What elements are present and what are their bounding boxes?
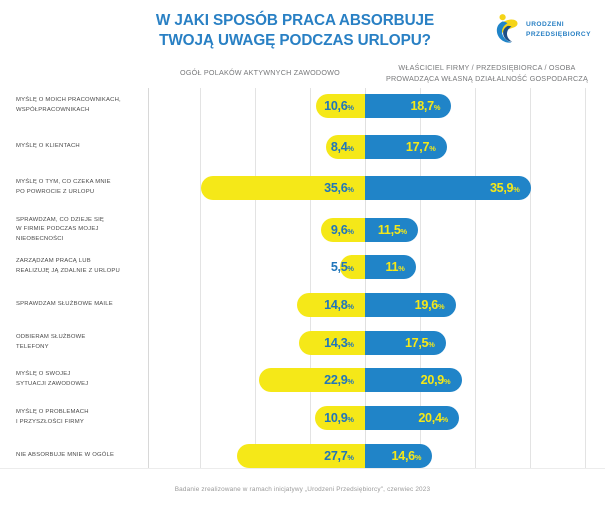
bar-value-general-population: 14,8% xyxy=(324,298,354,312)
chart-row-label-line: NIEOBECNOŚCI xyxy=(16,235,144,245)
legend-label-business-owners: WŁAŚCICIEL FIRMY / PRZEDSIĘBIORCA / OSOB… xyxy=(370,63,604,85)
chart-row-label: ODBIERAM SŁUŻBOWETELEFONY xyxy=(16,333,144,352)
footer-divider xyxy=(0,468,605,469)
chart-row-label-line: REALIZUJĘ JĄ ZDALNIE Z URLOPU xyxy=(16,267,144,277)
chart-row-label-line: MYŚLĘ O PROBLEMACH xyxy=(16,408,144,418)
bar-value-general-population: 5,5% xyxy=(331,260,354,274)
bar-value-general-population: 8,4% xyxy=(331,140,354,154)
bar-value-general-population: 27,7% xyxy=(324,449,354,463)
chart-row-label-line: MYŚLĘ O MOICH PRACOWNIKACH, xyxy=(16,96,144,106)
chart-row-label-line: TELEFONY xyxy=(16,343,144,353)
percent-sign: % xyxy=(429,144,436,153)
chart-row-label-line: MYŚLĘ O SWOJEJ xyxy=(16,370,144,380)
percent-sign: % xyxy=(347,340,354,349)
chart-row: SPRAWDZAM SŁUŻBOWE MAILE14,8%19,6% xyxy=(0,293,605,317)
chart-row-label: SPRAWDZAM, CO DZIEJE SIĘW FIRMIE PODCZAS… xyxy=(16,216,144,245)
chart-row: ZARZĄDZAM PRACĄ LUBREALIZUJĘ JĄ ZDALNIE … xyxy=(0,255,605,279)
percent-sign: % xyxy=(434,103,441,112)
chart-row: NIE ABSORBUJE MNIE W OGÓLE27,7%14,6% xyxy=(0,444,605,468)
chart-row-label: MYŚLĘ O MOICH PRACOWNIKACH,WSPÓŁPRACOWNI… xyxy=(16,96,144,115)
chart-row-label-line: MYŚLĘ O KLIENTACH xyxy=(16,142,144,152)
percent-sign: % xyxy=(513,185,520,194)
chart-row: MYŚLĘ O MOICH PRACOWNIKACH,WSPÓŁPRACOWNI… xyxy=(0,94,605,118)
chart-row-label: NIE ABSORBUJE MNIE W OGÓLE xyxy=(16,451,144,461)
page-title: W JAKI SPOSÓB PRACA ABSORBUJE TWOJĄ UWAG… xyxy=(100,11,490,50)
chart-row: MYŚLĘ O PROBLEMACHI PRZYSZŁOŚCI FIRMY10,… xyxy=(0,406,605,430)
bar-value-general-population: 35,6% xyxy=(324,181,354,195)
chart-row-label-line: SPRAWDZAM SŁUŻBOWE MAILE xyxy=(16,300,144,310)
percent-sign: % xyxy=(415,453,422,462)
bar-value-general-population: 10,6% xyxy=(324,99,354,113)
bar-value-business-owners: 19,6% xyxy=(415,298,445,312)
chart-row-label: MYŚLĘ O PROBLEMACHI PRZYSZŁOŚCI FIRMY xyxy=(16,408,144,427)
percent-sign: % xyxy=(444,377,451,386)
chart-row-label-line: W FIRMIE PODCZAS MOJEJ xyxy=(16,225,144,235)
bar-value-business-owners: 17,5% xyxy=(405,336,435,350)
chart-row-label-line: SPRAWDZAM, CO DZIEJE SIĘ xyxy=(16,216,144,226)
infographic-header: W JAKI SPOSÓB PRACA ABSORBUJE TWOJĄ UWAG… xyxy=(0,0,605,58)
percent-sign: % xyxy=(428,340,435,349)
bar-value-business-owners: 35,9% xyxy=(490,181,520,195)
chart-row-label: MYŚLĘ O SWOJEJSYTUACJI ZAWODOWEJ xyxy=(16,370,144,389)
chart-row-label-line: ODBIERAM SŁUŻBOWE xyxy=(16,333,144,343)
logo-wordmark-line-1: URODZENI xyxy=(526,20,591,30)
chart-row-label: SPRAWDZAM SŁUŻBOWE MAILE xyxy=(16,300,144,310)
chart-row-label-line: SYTUACJI ZAWODOWEJ xyxy=(16,380,144,390)
chart-row-label-line: I PRZYSZŁOŚCI FIRMY xyxy=(16,418,144,428)
chart-row-label: MYŚLĘ O KLIENTACH xyxy=(16,142,144,152)
percent-sign: % xyxy=(442,415,449,424)
legend-label-general-population: OGÓŁ POLAKÓW AKTYWNYCH ZAWODOWO xyxy=(160,68,360,79)
chart-row: SPRAWDZAM, CO DZIEJE SIĘW FIRMIE PODCZAS… xyxy=(0,218,605,242)
percent-sign: % xyxy=(347,227,354,236)
logo-wordmark-line-2: PRZEDSIĘBIORCY xyxy=(526,30,591,40)
page-title-line-2: TWOJĄ UWAGĘ PODCZAS URLOPU? xyxy=(100,31,490,51)
chart-row: MYŚLĘ O KLIENTACH8,4%17,7% xyxy=(0,135,605,159)
chart-row-label: ZARZĄDZAM PRACĄ LUBREALIZUJĘ JĄ ZDALNIE … xyxy=(16,257,144,276)
footer-note: Badanie zrealizowane w ramach inicjatywy… xyxy=(0,486,605,493)
diverging-bar-chart: MYŚLĘ O MOICH PRACOWNIKACH,WSPÓŁPRACOWNI… xyxy=(0,88,605,468)
percent-sign: % xyxy=(347,415,354,424)
chart-row: ODBIERAM SŁUŻBOWETELEFONY14,3%17,5% xyxy=(0,331,605,355)
percent-sign: % xyxy=(347,185,354,194)
bar-value-business-owners: 11% xyxy=(386,260,405,274)
percent-sign: % xyxy=(347,453,354,462)
percent-sign: % xyxy=(347,144,354,153)
logo-wordmark: URODZENI PRZEDSIĘBIORCY xyxy=(526,20,591,39)
percent-sign: % xyxy=(398,264,405,273)
bar-value-business-owners: 11,5% xyxy=(378,223,407,237)
bar-value-business-owners: 20,4% xyxy=(418,411,448,425)
page-title-line-1: W JAKI SPOSÓB PRACA ABSORBUJE xyxy=(100,11,490,31)
percent-sign: % xyxy=(347,264,354,273)
chart-row: MYŚLĘ O TYM, CO CZEKA MNIEPO POWROCIE Z … xyxy=(0,176,605,200)
chart-row-label-line: MYŚLĘ O TYM, CO CZEKA MNIE xyxy=(16,178,144,188)
bar-value-general-population: 9,6% xyxy=(331,223,354,237)
chart-row-label-line: ZARZĄDZAM PRACĄ LUB xyxy=(16,257,144,267)
chart-row: MYŚLĘ O SWOJEJSYTUACJI ZAWODOWEJ22,9%20,… xyxy=(0,368,605,392)
percent-sign: % xyxy=(347,377,354,386)
percent-sign: % xyxy=(347,103,354,112)
chart-row-label-line: PO POWROCIE Z URLOPU xyxy=(16,188,144,198)
bar-value-business-owners: 14,6% xyxy=(392,449,422,463)
percent-sign: % xyxy=(401,227,408,236)
chart-row-label-line: WSPÓŁPRACOWNIKACH xyxy=(16,106,144,116)
legend-label-business-owners-line-1: WŁAŚCICIEL FIRMY / PRZEDSIĘBIORCA / OSOB… xyxy=(370,63,604,74)
brand-logo: URODZENI PRZEDSIĘBIORCY xyxy=(493,12,597,46)
logo-figure-icon xyxy=(493,12,523,46)
bar-value-business-owners: 20,9% xyxy=(421,373,451,387)
percent-sign: % xyxy=(347,302,354,311)
bar-value-business-owners: 18,7% xyxy=(411,99,441,113)
percent-sign: % xyxy=(438,302,445,311)
legend-label-business-owners-line-2: PROWADZĄCA WŁASNĄ DZIAŁALNOŚĆ GOSPODARCZ… xyxy=(370,74,604,85)
chart-row-label: MYŚLĘ O TYM, CO CZEKA MNIEPO POWROCIE Z … xyxy=(16,178,144,197)
bar-value-general-population: 14,3% xyxy=(324,336,354,350)
chart-row-label-line: NIE ABSORBUJE MNIE W OGÓLE xyxy=(16,451,144,461)
bar-value-business-owners: 17,7% xyxy=(406,140,436,154)
bar-value-general-population: 10,9% xyxy=(324,411,354,425)
bar-value-general-population: 22,9% xyxy=(324,373,354,387)
